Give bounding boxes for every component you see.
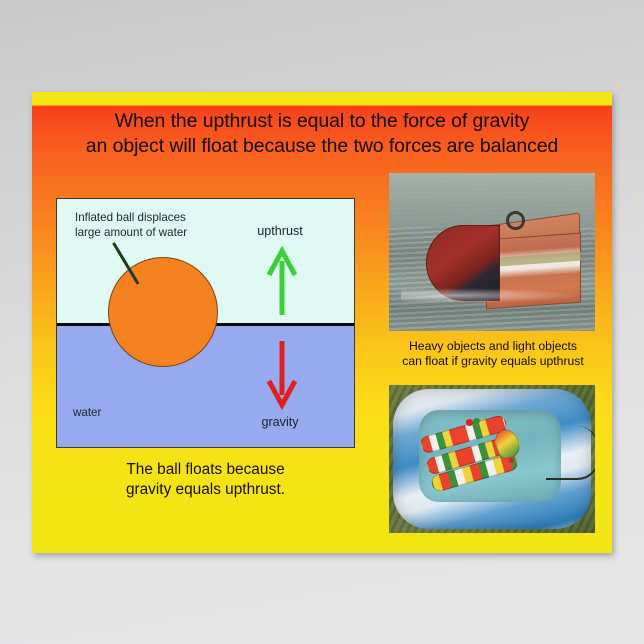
title-line-2: an object will float because the two for… (32, 134, 612, 159)
photos-caption: Heavy objects and light objects can floa… (383, 339, 603, 369)
science-poster: When the upthrust is equal to the force … (32, 92, 612, 553)
title-line-1: When the upthrust is equal to the force … (115, 110, 529, 132)
float-marker-red (509, 458, 515, 463)
inflated-ball-icon (108, 257, 218, 367)
up-arrow-icon (262, 245, 302, 317)
poster-inner: When the upthrust is equal to the force … (32, 92, 612, 553)
ball-caption-line-2: large amount of water (75, 226, 187, 239)
floats-caption-line-1: The ball floats because (126, 461, 284, 478)
buoyancy-diagram: Inflated ball displaces large amount of … (56, 198, 355, 448)
water-label: water (73, 406, 101, 419)
float-ball-red (466, 419, 473, 425)
pool-water (419, 410, 561, 502)
down-arrow-icon (262, 339, 302, 411)
gravity-label: gravity (235, 415, 325, 429)
ball-caption-line-1: Inflated ball displaces (75, 211, 186, 224)
ball-caption: Inflated ball displaces large amount of … (75, 211, 187, 240)
ball-floats-caption: The ball floats because gravity equals u… (56, 460, 355, 500)
upthrust-label: upthrust (235, 224, 325, 238)
photos-caption-line-1: Heavy objects and light objects (409, 339, 577, 353)
float-ball-green (473, 418, 480, 424)
page-title: When the upthrust is equal to the force … (32, 109, 612, 159)
buoy-photo (389, 173, 595, 331)
wave-foam (401, 288, 582, 302)
garden-hose (546, 426, 595, 479)
photos-caption-line-2: can float if gravity equals upthrust (402, 354, 584, 368)
paddling-pool-photo (389, 385, 595, 533)
poster-scene: When the upthrust is equal to the force … (0, 0, 644, 644)
floats-caption-line-2: gravity equals upthrust. (126, 481, 285, 498)
buoy-lifting-ring-icon (506, 211, 525, 230)
